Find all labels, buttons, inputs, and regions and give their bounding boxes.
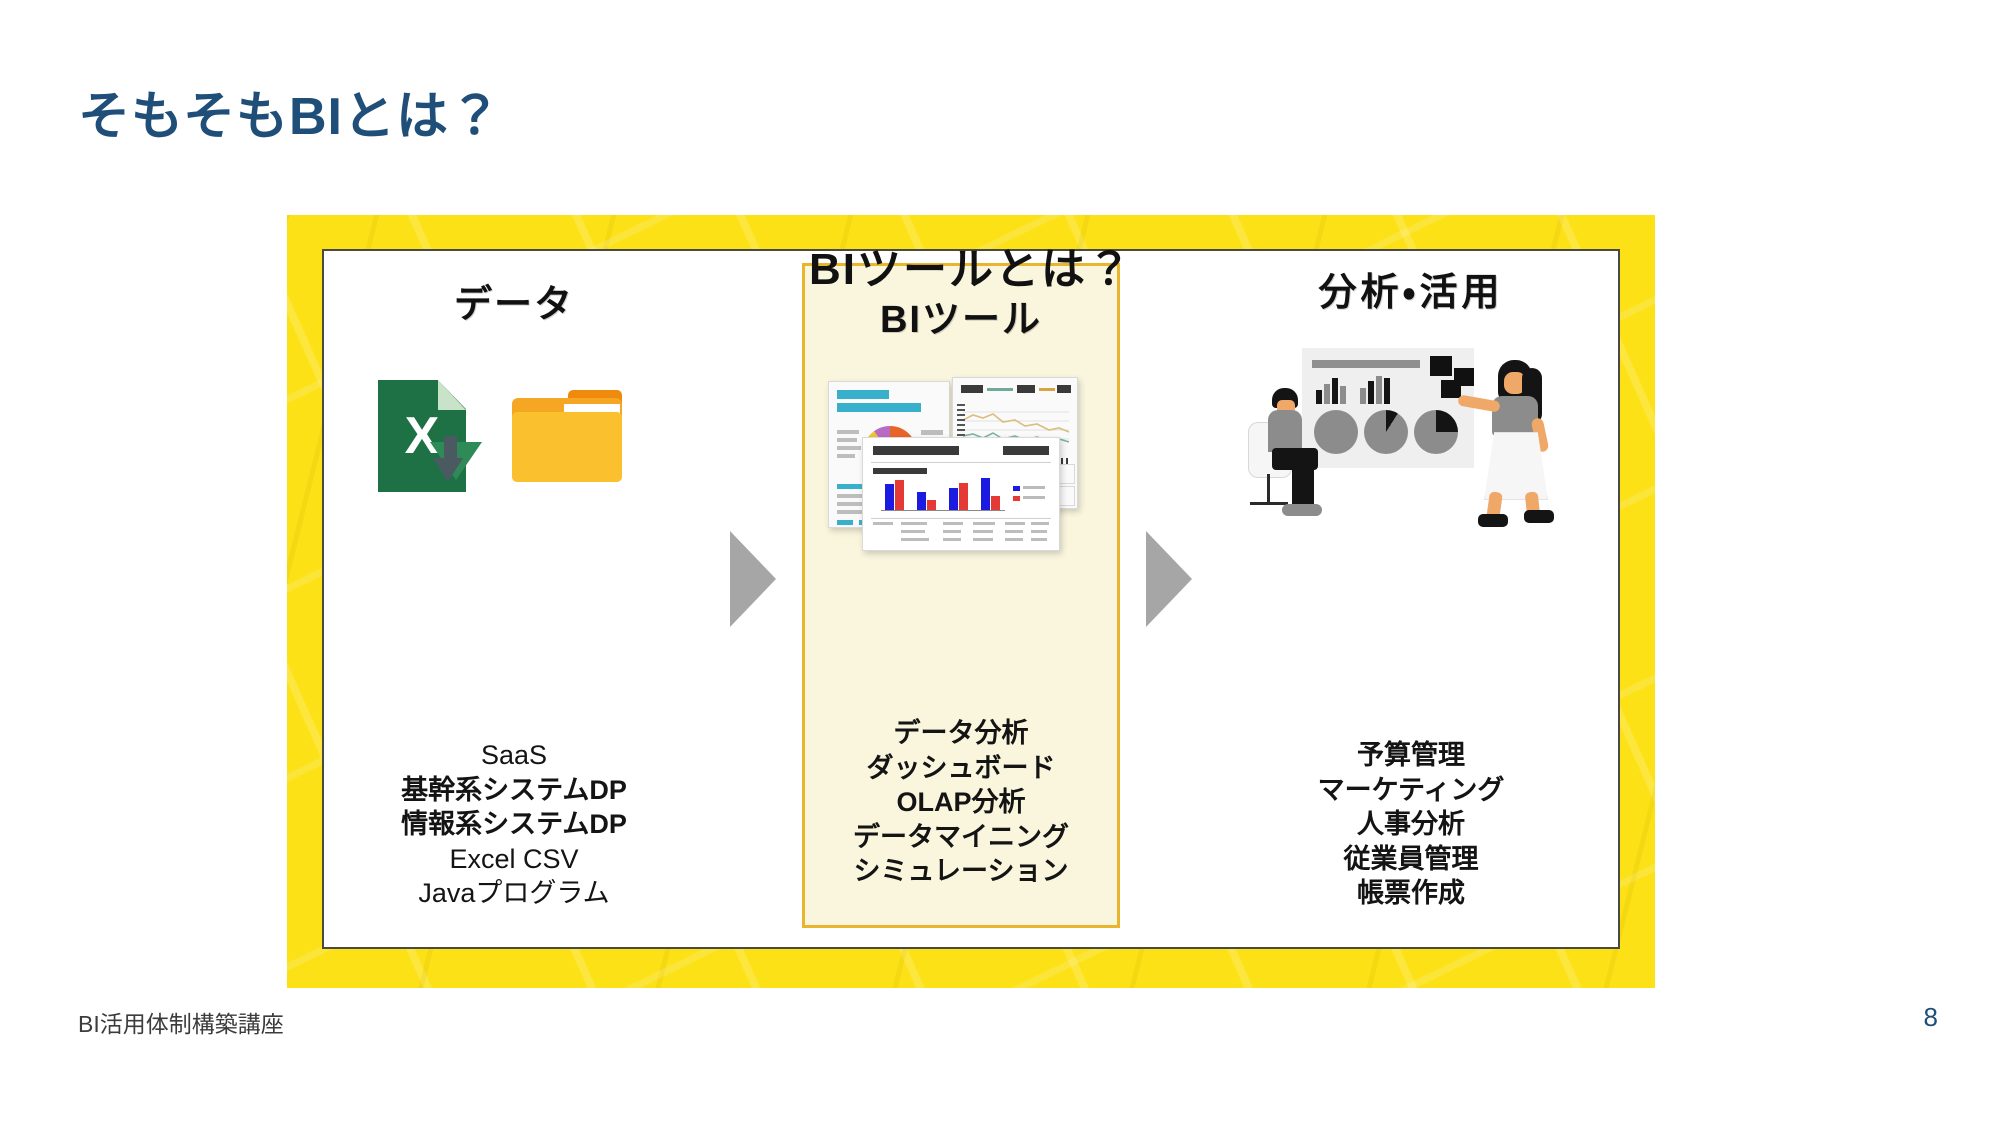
list-item: 基幹系システムDP — [401, 773, 627, 808]
footer-course-name: BI活用体制構築講座 — [78, 1005, 284, 1039]
column-analysis-list: 予算管理 マーケティング 人事分析 従業員管理 帳票作成 — [1318, 738, 1505, 911]
column-bitool: BIツール — [802, 251, 1120, 947]
data-sources-artwork: X — [364, 370, 664, 550]
column-bitool-highlight-box: BIツール — [802, 263, 1120, 928]
list-item: 人事分析 — [1318, 807, 1505, 842]
pie-chart-icon — [1314, 410, 1358, 454]
list-item: データ分析 — [853, 716, 1069, 751]
presentation-people-illustration — [1246, 342, 1576, 532]
list-item: マーケティング — [1318, 773, 1505, 808]
dashboard-cards-illustration — [826, 373, 1096, 553]
bi-figure-frame: BIツールとは？ データ X — [287, 215, 1655, 988]
list-item: OLAP分析 — [853, 785, 1069, 820]
arrow-data-to-bi — [704, 251, 802, 947]
column-bitool-list: データ分析 ダッシュボード OLAP分析 データマイニング シミュレーション — [853, 716, 1069, 889]
list-item: シミュレーション — [853, 854, 1069, 889]
analysis-board — [1302, 348, 1474, 468]
column-analysis: 分析・活用 — [1218, 251, 1604, 947]
list-item: 情報系システムDP — [401, 807, 627, 842]
column-data-list: SaaS 基幹系システムDP 情報系システムDP Excel CSV Javaプ… — [401, 738, 627, 911]
list-item: SaaS — [401, 738, 627, 773]
pie-chart-icon — [1364, 410, 1408, 454]
list-item: Javaプログラム — [401, 876, 627, 911]
list-item: Excel CSV — [401, 842, 627, 877]
download-arrow-icon — [440, 436, 458, 486]
arrow-bi-to-analysis — [1120, 251, 1218, 947]
slide-page-number: 8 — [1924, 1002, 1938, 1033]
right-arrow-icon — [730, 531, 776, 627]
pie-chart-icon — [1414, 410, 1458, 454]
page-title: そもそもBIとは？ — [78, 74, 502, 149]
list-item: データマイニング — [853, 820, 1069, 855]
figure-columns: データ X Saa — [324, 251, 1618, 947]
list-item: 従業員管理 — [1318, 842, 1505, 877]
figure-banner-title: BIツールとは？ — [287, 233, 1655, 297]
right-arrow-icon — [1146, 531, 1192, 627]
list-item: ダッシュボード — [853, 751, 1069, 786]
excel-file-fold-icon — [438, 380, 466, 410]
folder-icon — [512, 390, 622, 482]
figure-inner-panel: データ X Saa — [322, 249, 1620, 949]
list-item: 帳票作成 — [1318, 876, 1505, 911]
list-item: 予算管理 — [1318, 738, 1505, 773]
dashboard-card-bar — [862, 437, 1060, 551]
column-data: データ X Saa — [324, 251, 704, 947]
